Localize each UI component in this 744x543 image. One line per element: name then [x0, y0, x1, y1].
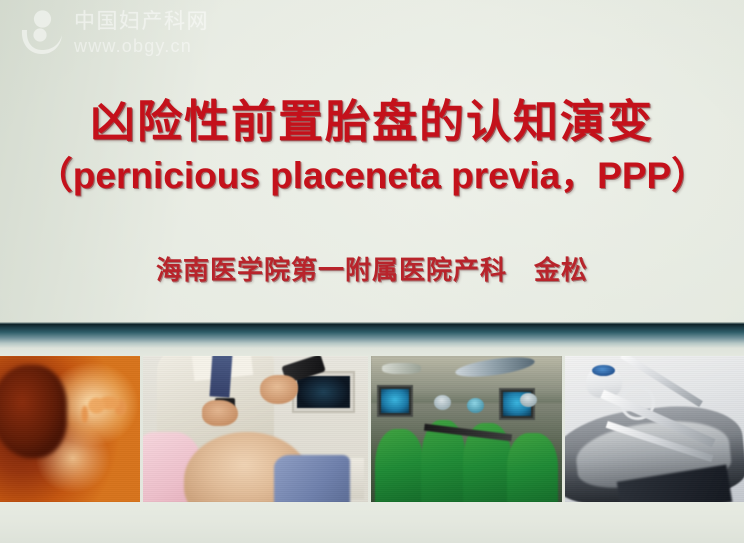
slide-title-chinese: 凶险性前置胎盘的认知演变 [0, 98, 744, 147]
watermark-site-name: 中国妇产科网 [74, 11, 209, 32]
doctor-hand-lower-shape [202, 400, 238, 426]
surgeon-gown-1-shape [375, 429, 425, 502]
surgeon-gown-4-shape [507, 433, 559, 502]
operating-room-photo [371, 356, 562, 502]
author-affiliation-line: 海南医学院第一附属医院产科 金松 [0, 250, 744, 287]
ultrasound-exam-photo-image [143, 356, 368, 502]
fetus-hand-photo-image [0, 356, 140, 502]
mother-baby-logo-icon [18, 8, 66, 58]
slide-title-english: （pernicious placeneta previa，PPP） [0, 156, 744, 197]
surgical-lamp-secondary-shape [382, 363, 420, 373]
title-block: 凶险性前置胎盘的认知演变 （pernicious placeneta previ… [0, 98, 744, 196]
ultrasound-exam-photo [143, 356, 368, 502]
site-watermark: 中国妇产科网 www.obgy.cn [18, 8, 209, 58]
surgeon-cap-1-shape [434, 395, 451, 410]
fetus-fingers-shape [78, 388, 134, 432]
watermark-site-url: www.obgy.cn [74, 37, 209, 55]
surgeon-cap-2-shape [467, 398, 484, 413]
slide-footer [0, 502, 744, 543]
fetus-head-shape [0, 365, 67, 458]
surgeon-cap-3-shape [520, 393, 537, 408]
fetus-hand-photo [0, 356, 140, 502]
ultrasound-screen-shape [297, 376, 350, 408]
surgical-instruments-photo [565, 356, 744, 502]
presentation-slide: 中国妇产科网 www.obgy.cn 凶险性前置胎盘的认知演变 （pernici… [0, 0, 744, 543]
patient-blue-drape-shape [274, 455, 351, 502]
doctor-tie-shape [209, 356, 232, 398]
or-monitor-left-shape [377, 385, 413, 417]
divider-band [0, 324, 744, 348]
watermark-text: 中国妇产科网 www.obgy.cn [74, 11, 209, 55]
operating-room-photo-image [371, 356, 562, 502]
surgical-instruments-photo-image [565, 356, 744, 502]
photo-strip [0, 356, 744, 502]
